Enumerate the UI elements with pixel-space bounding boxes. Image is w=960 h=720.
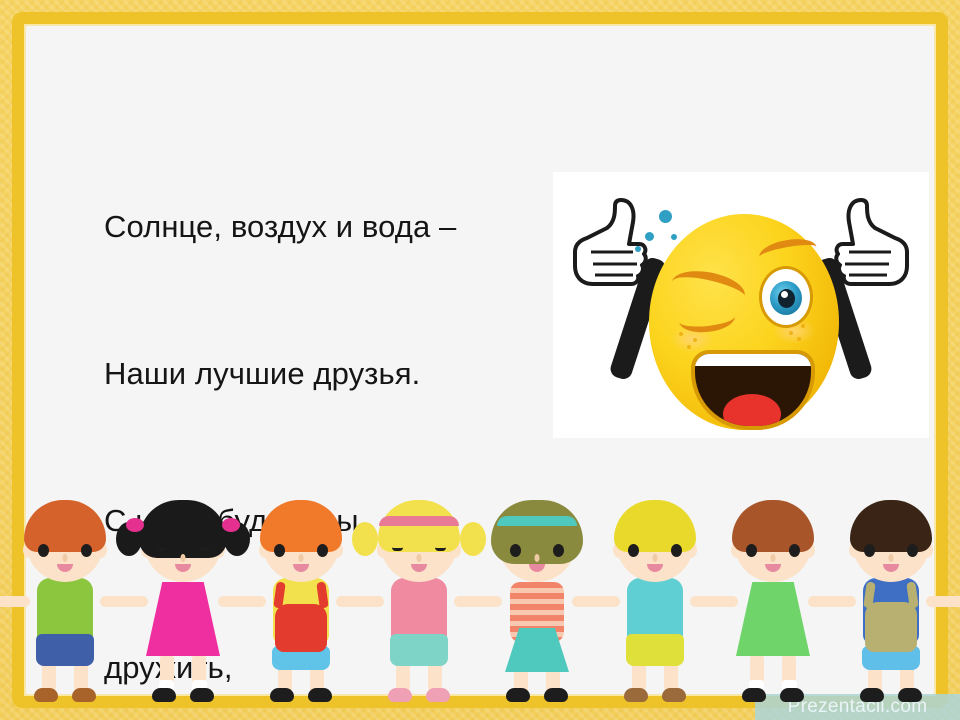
child-eye (864, 544, 875, 557)
child-nose (417, 554, 422, 562)
child-eye (392, 544, 403, 551)
child-arm-left (580, 596, 620, 607)
child-pigtail (460, 522, 486, 556)
child-shoe (662, 688, 686, 702)
child-figure (124, 496, 242, 706)
child-shorts (626, 634, 684, 666)
child-shoe (780, 688, 804, 702)
child-eye (274, 544, 285, 557)
child-figure (242, 496, 360, 706)
child-nose (535, 554, 540, 562)
smiley-tongue (723, 394, 781, 430)
child-shorts (36, 634, 94, 666)
child-eye (156, 544, 167, 551)
child-eye (38, 544, 49, 557)
child-shoe (624, 688, 648, 702)
child-pigtail (352, 522, 378, 556)
thumbs-up-right-icon (833, 194, 915, 298)
smiley-open-eye (759, 266, 813, 328)
child-shoe (190, 688, 214, 702)
child-overalls (275, 604, 327, 652)
child-nose (771, 554, 776, 562)
child-hair-bow (222, 518, 240, 532)
smiley-freckle (679, 332, 683, 336)
child-shoe (152, 688, 176, 702)
sparkle-bubble-4 (635, 246, 641, 252)
slide-canvas: Солнце, воздух и вода – Наши лучшие друз… (0, 0, 960, 720)
child-shoe (308, 688, 332, 702)
child-hair (260, 500, 342, 552)
poem-line-2: Наши лучшие друзья. (104, 349, 574, 398)
child-hair (378, 500, 460, 552)
child-arm-right (926, 596, 960, 607)
child-shoe (270, 688, 294, 702)
child-nose (889, 554, 894, 562)
child-hair (139, 500, 227, 558)
child-hair (850, 500, 932, 552)
smiley-freckle (789, 331, 793, 335)
child-shoe (742, 688, 766, 702)
child-hair (24, 500, 106, 552)
child-figure (596, 496, 714, 706)
child-eye (671, 544, 682, 557)
child-shorts (390, 634, 448, 666)
child-figure (360, 496, 478, 706)
smiley-image-box (553, 172, 929, 438)
sparkle-bubble-3 (671, 234, 677, 240)
child-shoe (860, 688, 884, 702)
child-hair-bow (126, 518, 144, 532)
child-eye (789, 544, 800, 557)
child-figure (478, 496, 596, 706)
child-arm-left (816, 596, 856, 607)
child-figure (714, 496, 832, 706)
child-dress (146, 582, 220, 656)
smiley-freckle (797, 337, 801, 341)
child-shoe (544, 688, 568, 702)
smiley-face (649, 214, 839, 430)
child-arm-left (108, 596, 148, 607)
smiley-teeth (695, 354, 811, 366)
child-dress (736, 582, 810, 656)
smiley-freckle (801, 324, 805, 328)
child-shoe (388, 688, 412, 702)
child-arm-left (0, 596, 30, 607)
children-illustration-row (0, 491, 960, 706)
child-hair (614, 500, 696, 552)
child-shoe (506, 688, 530, 702)
child-shoe (72, 688, 96, 702)
child-eye (907, 544, 918, 557)
child-eye (746, 544, 757, 557)
child-shoe (898, 688, 922, 702)
child-eye (317, 544, 328, 557)
child-arm-left (344, 596, 384, 607)
child-figure (832, 496, 950, 706)
child-arm-left (698, 596, 738, 607)
smiley-freckle (693, 338, 697, 342)
child-overalls (865, 602, 917, 652)
smiley-freckle (687, 345, 691, 349)
smiley-mouth (691, 350, 815, 430)
child-eye (628, 544, 639, 557)
child-arm-left (462, 596, 502, 607)
child-headband (379, 516, 459, 526)
child-nose (299, 554, 304, 562)
smiley-eye-glint (781, 291, 788, 298)
child-figure (6, 496, 124, 706)
smiley-thumbs-up-icon (553, 172, 929, 438)
poem-line-1: Солнце, воздух и вода – (104, 202, 574, 251)
child-nose (653, 554, 658, 562)
child-eye (199, 544, 210, 551)
child-eye (81, 544, 92, 557)
child-nose (63, 554, 68, 562)
sparkle-bubble-1 (659, 210, 672, 223)
child-eye (435, 544, 446, 551)
child-arm-left (226, 596, 266, 607)
smiley-eyebrow-right (757, 235, 818, 269)
child-nose (181, 554, 186, 562)
child-shoe (426, 688, 450, 702)
child-shoe (34, 688, 58, 702)
child-hair (732, 500, 814, 552)
child-headband (497, 516, 577, 526)
sparkle-bubble-2 (645, 232, 654, 241)
child-eye (553, 544, 564, 557)
child-eye (510, 544, 521, 557)
